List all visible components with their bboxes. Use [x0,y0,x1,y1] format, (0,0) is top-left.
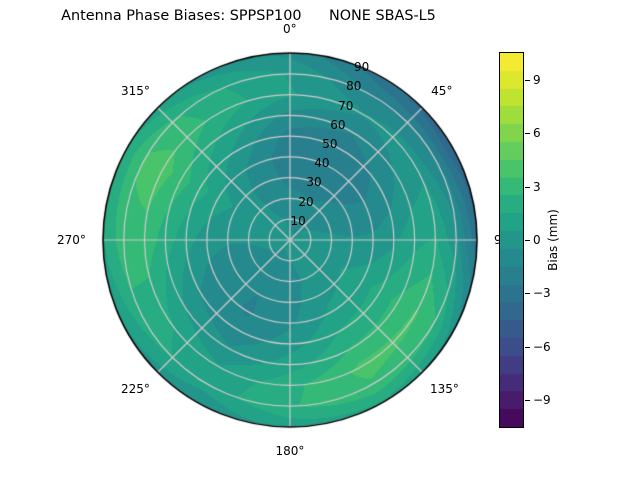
colorbar-axis-label: Bias (mm) [546,209,560,271]
colorbar-tick-mark [525,133,530,134]
colorbar-tick-label: 9 [533,73,541,87]
polar-heatmap [0,0,640,480]
colorbar-tick-mark [525,187,530,188]
colorbar-tick-label: 0 [533,233,541,247]
colorbar-gradient [500,53,523,427]
colorbar-tick-label: 3 [533,180,541,194]
colorbar-tick-mark [525,347,530,348]
angular-tick-180: 180° [276,444,305,458]
radial-tick-40: 40 [314,156,329,170]
radial-tick-50: 50 [322,137,337,151]
figure-canvas: Antenna Phase Biases: SPPSP100 NONE SBAS… [0,0,640,480]
radial-tick-20: 20 [298,195,313,209]
angular-tick-225: 225° [121,382,150,396]
colorbar-tick-mark [525,240,530,241]
angular-tick-0: 0° [283,22,297,36]
angular-tick-45: 45° [431,84,452,98]
radial-tick-70: 70 [338,99,353,113]
angular-tick-135: 135° [430,382,459,396]
angular-tick-270: 270° [57,233,86,247]
angular-tick-315: 315° [121,84,150,98]
colorbar-tick-mark [525,293,530,294]
colorbar-tick-label: 6 [533,126,541,140]
radial-tick-90: 90 [354,60,369,74]
radial-tick-80: 80 [346,79,361,93]
colorbar-tick-label: −3 [533,286,551,300]
radial-tick-10: 10 [290,214,305,228]
radial-tick-30: 30 [306,175,321,189]
radial-tick-60: 60 [330,118,345,132]
colorbar-tick-label: −6 [533,340,551,354]
colorbar-tick-mark [525,400,530,401]
colorbar-tick-label: −9 [533,393,551,407]
colorbar-tick-mark [525,80,530,81]
